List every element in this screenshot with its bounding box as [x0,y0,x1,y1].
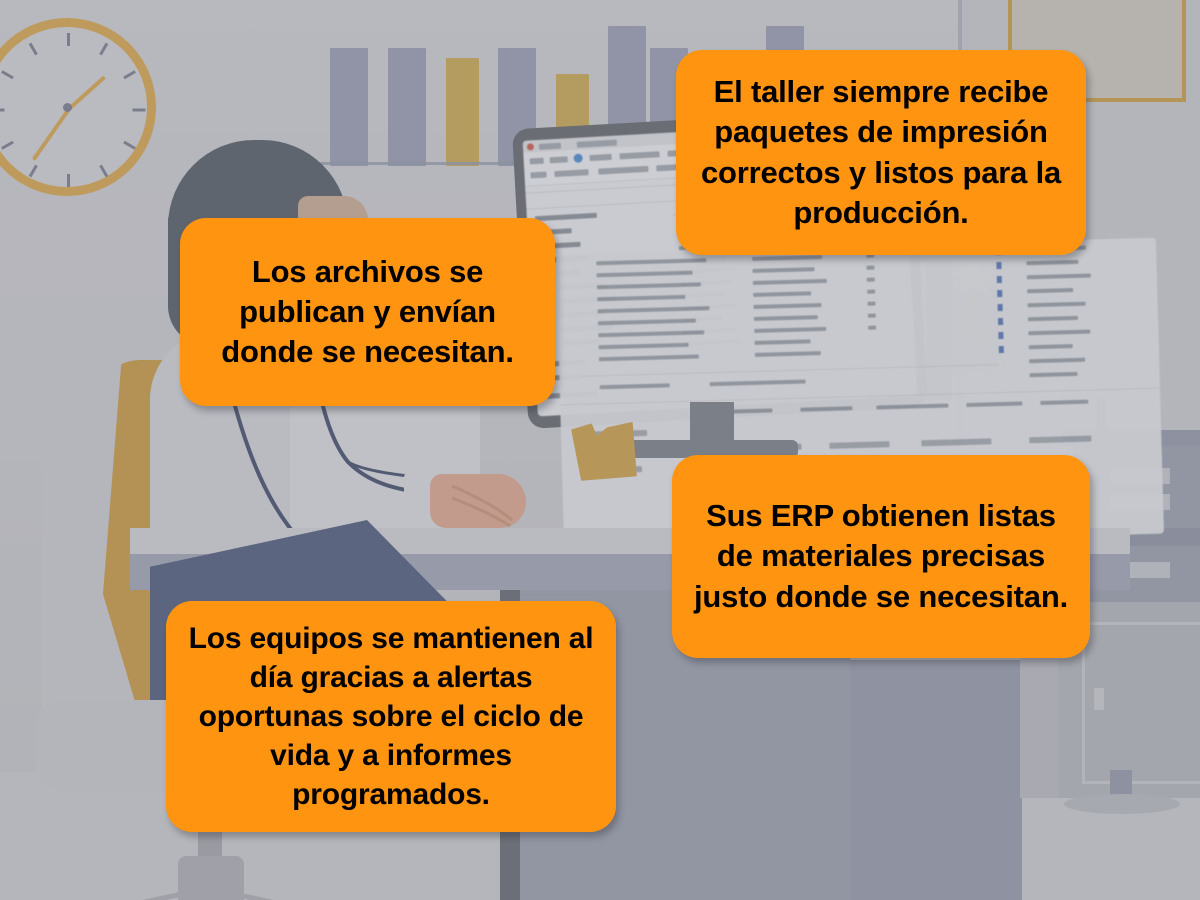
callout-taller-text: El taller siempre recibe paquetes de imp… [696,72,1066,233]
callout-archivos[interactable]: Los archivos se publican y envían donde … [180,218,555,406]
callout-erp-text: Sus ERP obtienen listas de materiales pr… [692,496,1070,617]
callout-archivos-text: Los archivos se publican y envían donde … [200,252,535,373]
callout-erp[interactable]: Sus ERP obtienen listas de materiales pr… [672,455,1090,658]
clock-minute-hand [32,108,71,161]
callout-equipos-text: Los equipos se mantienen al día gracias … [186,619,596,814]
screenshot-canvas: El taller siempre recibe paquetes de imp… [0,0,1200,900]
clock-center-pin [63,103,72,112]
person-hand [430,474,526,528]
callout-taller[interactable]: El taller siempre recibe paquetes de imp… [676,50,1086,255]
background-block-right [850,660,1022,900]
cabinet-side-panel [1020,650,1060,798]
cabinet-shadow [1064,794,1180,814]
callout-equipos[interactable]: Los equipos se mantienen al día gracias … [166,601,616,832]
clock-hour-hand [68,75,106,110]
cabinet-latch-icon[interactable] [1094,688,1104,710]
